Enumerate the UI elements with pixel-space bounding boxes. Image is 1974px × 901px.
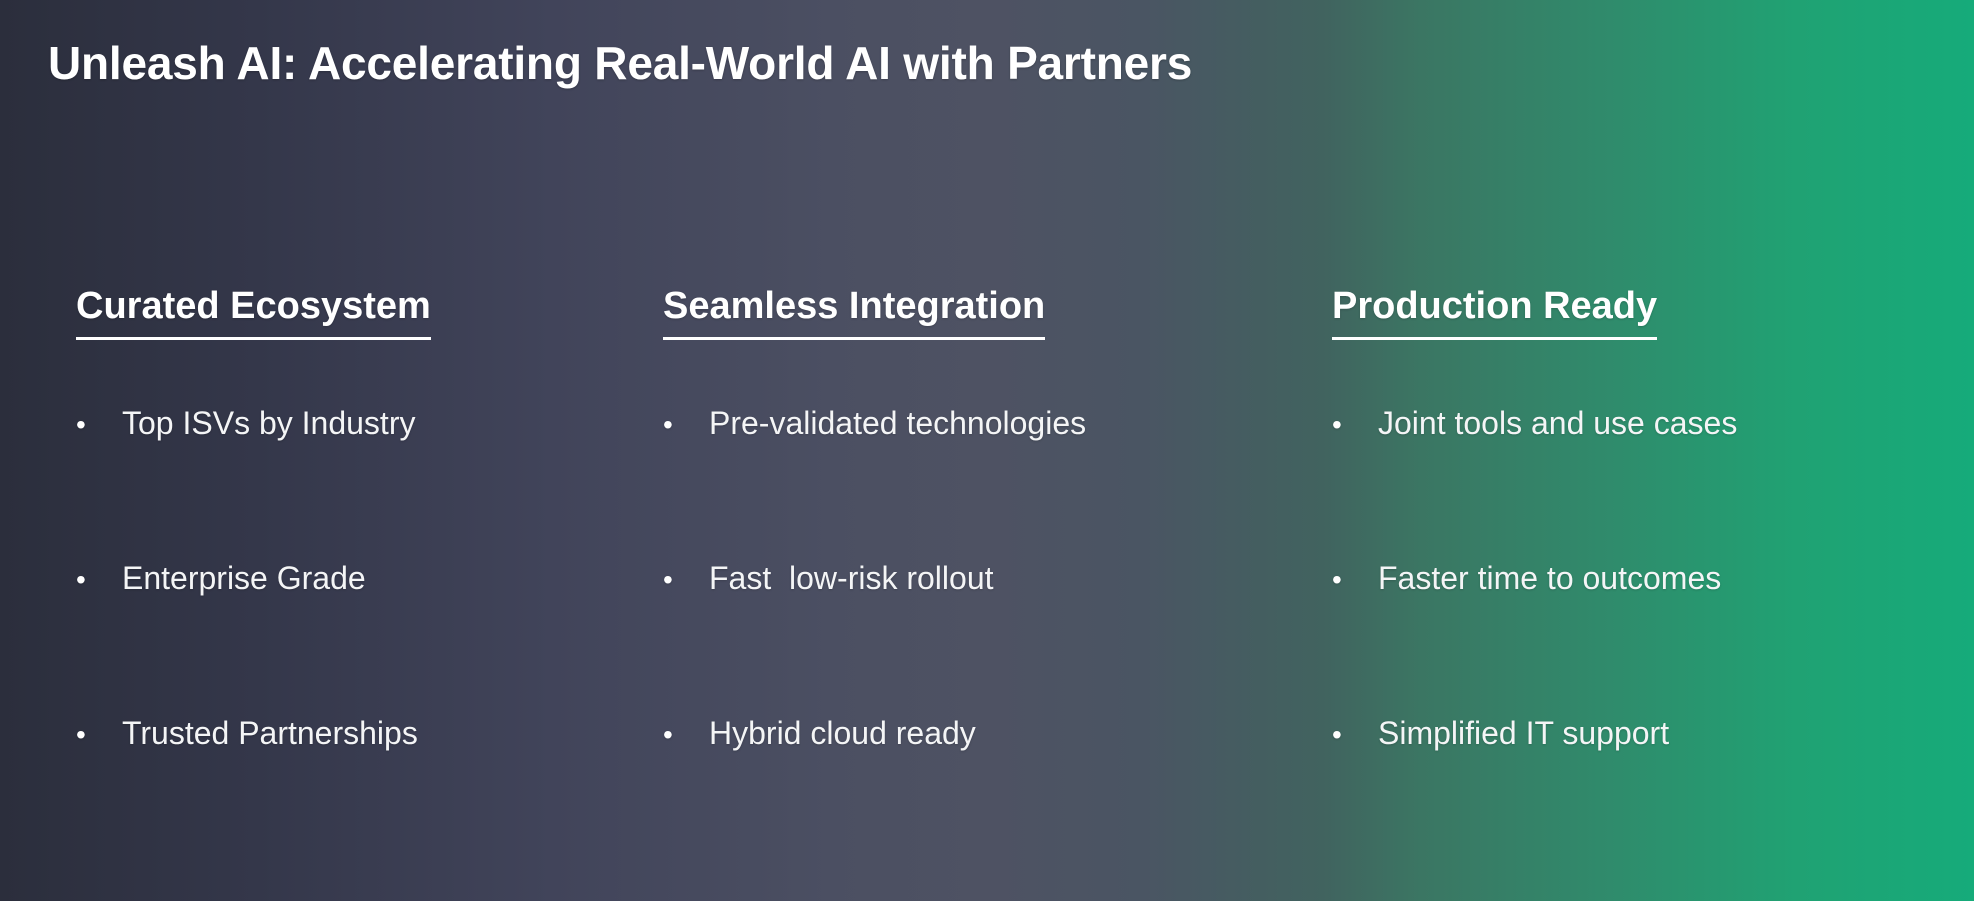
list-item: • Simplified IT support: [1332, 716, 1974, 871]
page-title: Unleash AI: Accelerating Real-World AI w…: [48, 36, 1192, 90]
bullet-text: Pre-validated technologies: [709, 406, 1086, 441]
bullet-text: Simplified IT support: [1378, 716, 1669, 751]
bullet-point-icon: •: [76, 411, 122, 439]
bullet-text: Fast low-risk rollout: [709, 561, 994, 596]
three-column-layout: Curated Ecosystem • Top ISVs by Industry…: [0, 285, 1974, 871]
column-seamless-integration: Seamless Integration • Pre-validated tec…: [645, 285, 1297, 871]
list-item: • Enterprise Grade: [76, 561, 645, 716]
bullet-list-2: • Pre-validated technologies • Fast low-…: [663, 406, 1297, 871]
bullet-point-icon: •: [76, 566, 122, 594]
bullet-text: Trusted Partnerships: [122, 716, 418, 751]
list-item: • Trusted Partnerships: [76, 716, 645, 871]
bullet-point-icon: •: [663, 721, 709, 749]
bullet-text: Hybrid cloud ready: [709, 716, 976, 751]
bullet-text: Enterprise Grade: [122, 561, 366, 596]
bullet-point-icon: •: [1332, 721, 1378, 749]
column-heading-3: Production Ready: [1332, 285, 1657, 340]
bullet-point-icon: •: [1332, 411, 1378, 439]
bullet-text: Top ISVs by Industry: [122, 406, 415, 441]
slide-canvas: Unleash AI: Accelerating Real-World AI w…: [0, 0, 1974, 901]
list-item: • Pre-validated technologies: [663, 406, 1297, 561]
bullet-text: Joint tools and use cases: [1378, 406, 1737, 441]
bullet-list-1: • Top ISVs by Industry • Enterprise Grad…: [76, 406, 645, 871]
bullet-point-icon: •: [76, 721, 122, 749]
list-item: • Joint tools and use cases: [1332, 406, 1974, 561]
column-curated-ecosystem: Curated Ecosystem • Top ISVs by Industry…: [0, 285, 645, 871]
column-heading-2: Seamless Integration: [663, 285, 1045, 340]
list-item: • Faster time to outcomes: [1332, 561, 1974, 716]
list-item: • Hybrid cloud ready: [663, 716, 1297, 871]
bullet-list-3: • Joint tools and use cases • Faster tim…: [1332, 406, 1974, 871]
column-production-ready: Production Ready • Joint tools and use c…: [1297, 285, 1974, 871]
bullet-point-icon: •: [1332, 566, 1378, 594]
bullet-point-icon: •: [663, 411, 709, 439]
bullet-text: Faster time to outcomes: [1378, 561, 1721, 596]
bullet-point-icon: •: [663, 566, 709, 594]
list-item: • Fast low-risk rollout: [663, 561, 1297, 716]
list-item: • Top ISVs by Industry: [76, 406, 645, 561]
column-heading-1: Curated Ecosystem: [76, 285, 431, 340]
